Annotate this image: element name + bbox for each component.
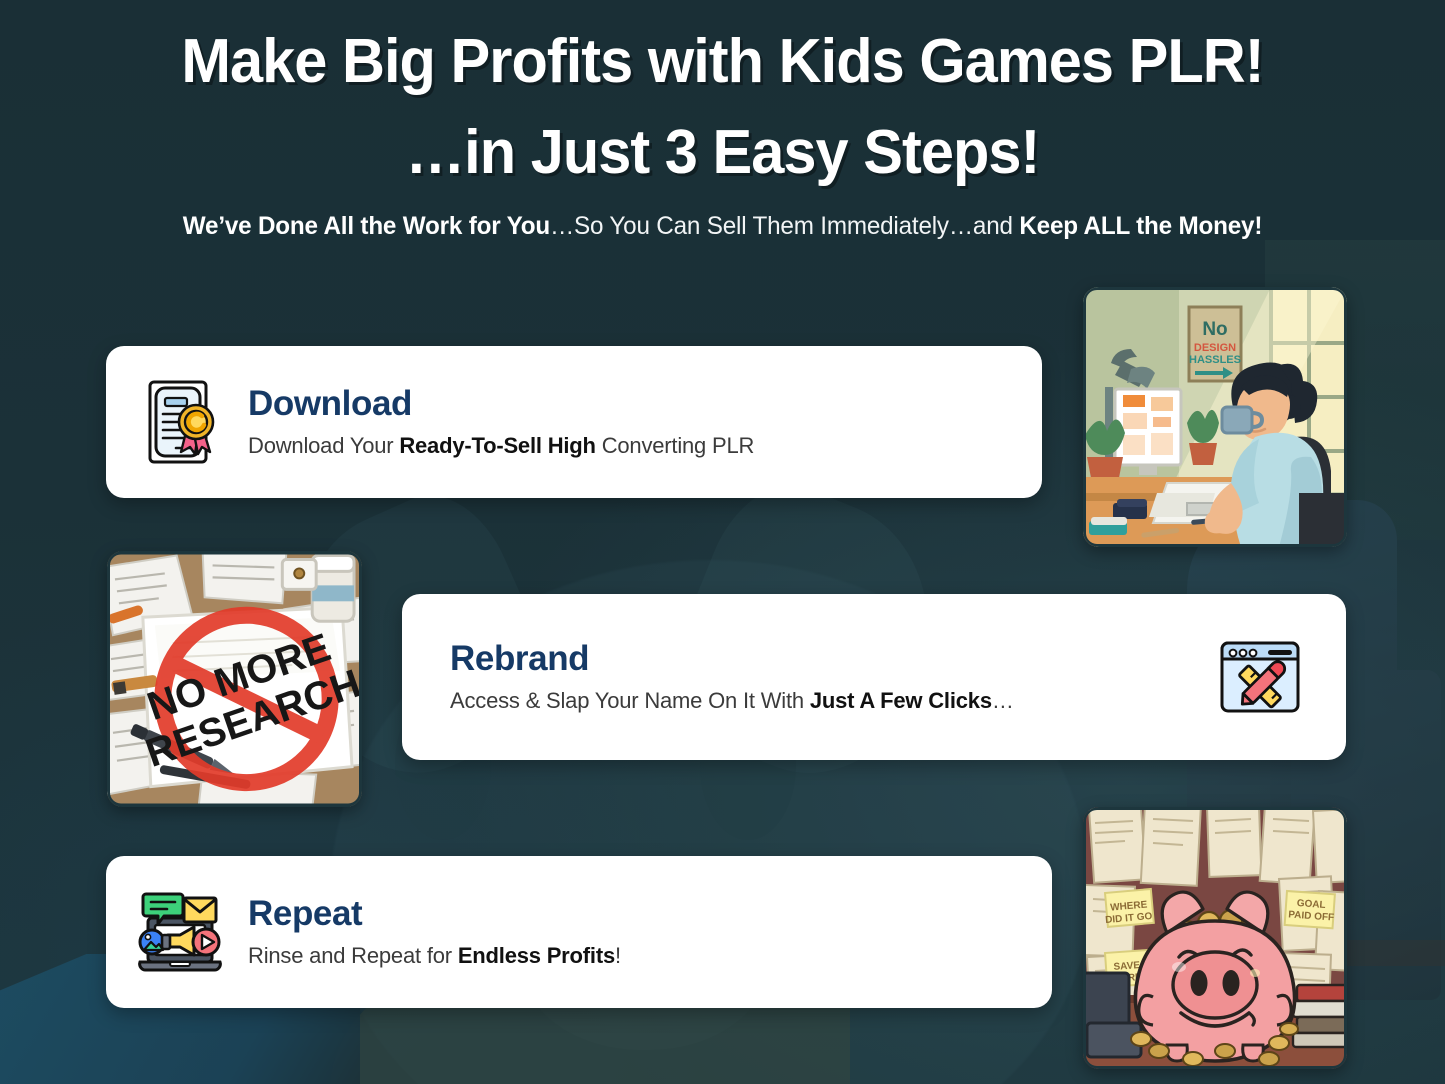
promo-slide: Make Big Profits with Kids Games PLR! …i…: [0, 0, 1445, 1084]
step-title-download: Download: [248, 384, 1016, 423]
desc-bold: Ready-To-Sell High: [399, 433, 595, 458]
svg-text:GOAL: GOAL: [1296, 898, 1326, 911]
no-more-research-illustration: NO MORE RESEARCH: [107, 551, 362, 807]
desc-pre: Access & Slap Your Name On It With: [450, 688, 810, 713]
desc-bold: Just A Few Clicks: [810, 688, 992, 713]
step-card-download[interactable]: Download Download Your Ready-To-Sell Hig…: [106, 346, 1042, 498]
step-card-rebrand-text: Rebrand Access & Slap Your Name On It Wi…: [428, 639, 1212, 715]
step-desc-repeat: Rinse and Repeat for Endless Profits!: [248, 942, 1026, 970]
subtitle-light-middle: …So You Can Sell Them Immediately…and: [550, 212, 1019, 240]
desc-pre: Download Your: [248, 433, 399, 458]
subtitle-bold-tail: Keep ALL the Money!: [1019, 212, 1262, 240]
woman-at-desk-illustration: No DESIGN HASSLES: [1083, 287, 1347, 547]
svg-text:HASSLES: HASSLES: [1189, 354, 1241, 366]
svg-text:No: No: [1202, 319, 1227, 340]
step-desc-download: Download Your Ready-To-Sell High Convert…: [248, 432, 1016, 460]
certificate-award-icon: [132, 374, 228, 470]
svg-text:DESIGN: DESIGN: [1194, 342, 1236, 354]
desc-pre: Rinse and Repeat for: [248, 943, 458, 968]
step-card-download-text: Download Download Your Ready-To-Sell Hig…: [228, 384, 1016, 460]
desc-post: !: [615, 943, 621, 968]
step-title-repeat: Repeat: [248, 894, 1026, 933]
headline-line-1: Make Big Profits with Kids Games PLR!: [181, 27, 1263, 96]
step-card-rebrand[interactable]: Rebrand Access & Slap Your Name On It Wi…: [402, 594, 1346, 760]
headline-line-2: …in Just 3 Easy Steps!: [29, 107, 1416, 198]
piggy-bank-with-coins-illustration: WHERE DID IT GO GOAL PAID OFF SAVE MORE: [1083, 807, 1347, 1069]
browser-pencil-ruler-icon: [1212, 629, 1308, 725]
step-desc-rebrand: Access & Slap Your Name On It With Just …: [450, 687, 1212, 715]
step-title-rebrand: Rebrand: [450, 639, 1212, 678]
page-title: Make Big Profits with Kids Games PLR! …i…: [29, 16, 1416, 198]
desc-bold: Endless Profits: [458, 943, 615, 968]
step-card-repeat[interactable]: Repeat Rinse and Repeat for Endless Prof…: [106, 856, 1052, 1008]
subtitle-bold-lead: We’ve Done All the Work for You: [183, 212, 550, 240]
laptop-marketing-icon: [132, 884, 228, 980]
page-subtitle: We’ve Done All the Work for You…So You C…: [22, 212, 1424, 241]
step-card-repeat-text: Repeat Rinse and Repeat for Endless Prof…: [228, 894, 1026, 970]
desc-post: Converting PLR: [596, 433, 754, 458]
svg-text:SAVE: SAVE: [1113, 960, 1141, 973]
desc-post: …: [992, 688, 1014, 713]
